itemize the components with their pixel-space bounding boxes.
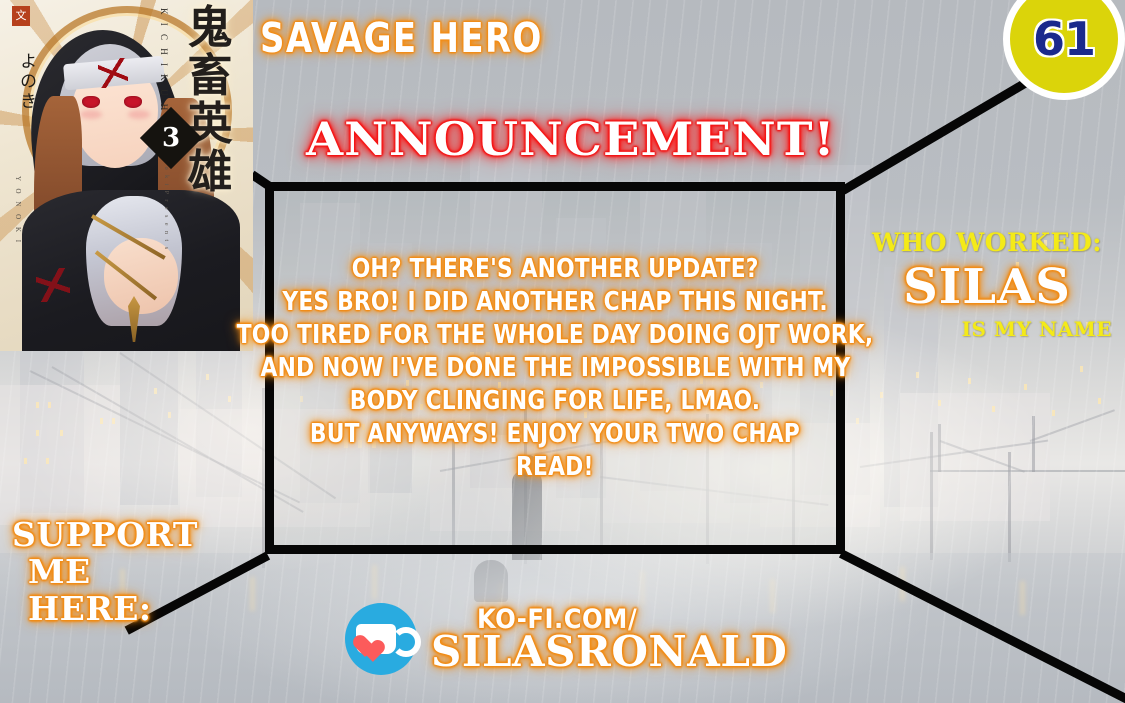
kofi-text-block: KO-FI.COM/ SILASRONALD	[431, 606, 787, 673]
cover-volume-number: 3	[162, 123, 180, 153]
credits-block: WHO WORKED: SILAS IS MY NAME	[856, 228, 1118, 341]
announcement-text-block: OH? THERE'S ANOTHER UPDATE? YES BRO! I D…	[274, 191, 836, 545]
cover-imprint-badge: 文	[12, 6, 30, 26]
support-label: SUPPORT ME HERE:	[12, 516, 212, 627]
cover-eye-right	[124, 96, 142, 108]
cover-eye-left	[82, 96, 100, 108]
announcement-heading: ANNOUNCEMENT!	[306, 112, 836, 166]
announcement-panel: OH? THERE'S ANOTHER UPDATE? YES BRO! I D…	[265, 182, 845, 554]
announcement-line: OH? THERE'S ANOTHER UPDATE?	[352, 253, 759, 286]
announcement-line: READ!	[516, 451, 594, 484]
cover-robe-sigil	[36, 268, 70, 302]
cover-author-name: よのき	[14, 52, 39, 112]
kofi-heart-icon	[363, 631, 389, 654]
chapter-number: 61	[1033, 12, 1095, 66]
kofi-cup-handle	[391, 627, 421, 657]
cover-forehead-sigil	[98, 58, 128, 88]
kofi-handle[interactable]: SILASRONALD	[431, 631, 787, 673]
announcement-page: 文 よのき Y O N O K I K I C H I K U H E R O …	[0, 0, 1125, 703]
credits-label: WHO WORKED:	[856, 228, 1118, 257]
support-label-line2: ME HERE:	[12, 553, 212, 627]
announcement-line: YES BRO! I DID ANOTHER CHAP THIS NIGHT.	[282, 286, 827, 319]
credits-name: SILAS	[856, 259, 1118, 315]
series-title: SAVAGE HERO	[260, 14, 543, 62]
cover-face-blush-left	[80, 110, 102, 119]
novel-cover-thumbnail: 文 よのき Y O N O K I K I C H I K U H E R O …	[0, 0, 253, 351]
announcement-line: TOO TIRED FOR THE WHOLE DAY DOING OJT WO…	[237, 319, 874, 352]
announcement-line: AND NOW I'VE DONE THE IMPOSSIBLE WITH MY	[260, 352, 850, 385]
support-label-line1: SUPPORT	[12, 516, 212, 553]
cover-face-blush-right	[128, 110, 150, 119]
credits-name-suffix: IS MY NAME	[856, 317, 1118, 341]
cover-title-japanese: 鬼畜英雄	[173, 4, 247, 196]
kofi-cup-heart-icon[interactable]	[345, 603, 417, 675]
announcement-line: BODY CLINGING FOR LIFE, LMAO.	[350, 385, 760, 418]
announcement-line: BUT ANYWAYS! ENJOY YOUR TWO CHAP	[310, 418, 800, 451]
cover-author-romaji: Y O N O K I	[14, 176, 22, 245]
kofi-link[interactable]: KO-FI.COM/ SILASRONALD	[345, 603, 787, 675]
